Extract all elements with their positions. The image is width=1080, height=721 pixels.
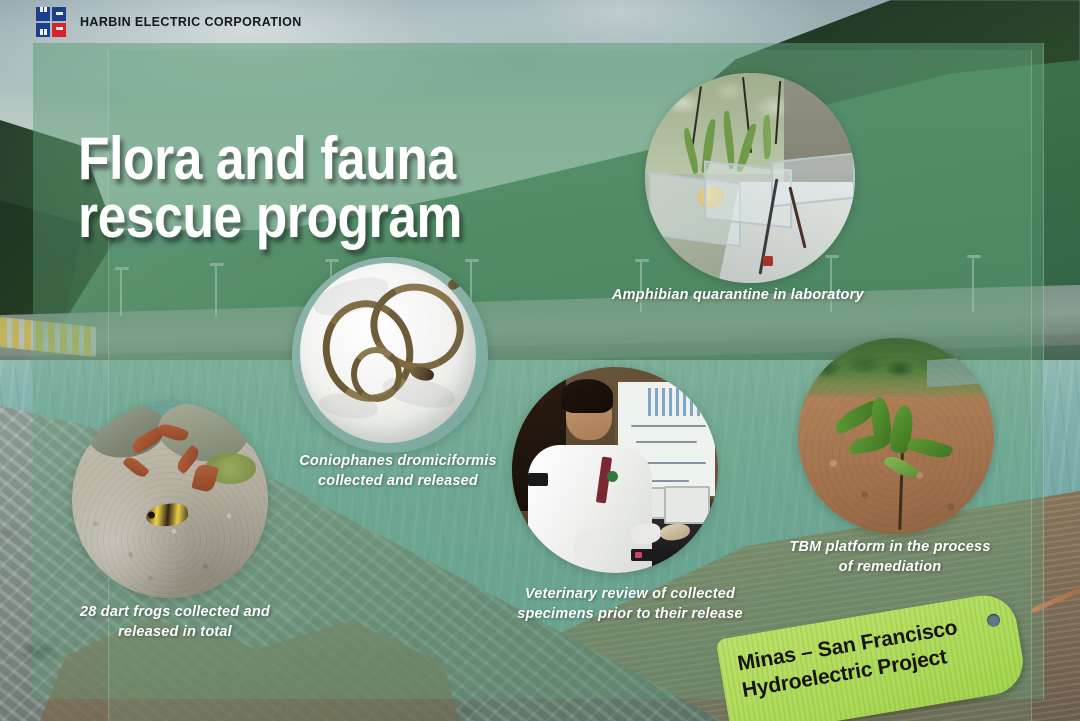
brand-name: HARBIN ELECTRIC CORPORATION (80, 15, 302, 29)
header-bar: HARBIN ELECTRIC CORPORATION (0, 0, 1080, 44)
photo-content (645, 73, 855, 283)
photo-content (512, 367, 718, 573)
whiteboard-writing (636, 441, 698, 443)
photo-content (292, 257, 488, 453)
amphibian-quarantine-photo (645, 73, 855, 283)
harbin-electric-logo-icon (36, 7, 66, 37)
logo-block-bottom-right (52, 23, 66, 37)
caption-dart-frogs: 28 dart frogs collected and released in … (60, 603, 290, 642)
logo-block-bottom-left (36, 23, 50, 37)
caption-snake: Coniophanes dromiciformis collected and … (290, 452, 506, 491)
snake-photo (292, 257, 488, 453)
tbm-platform-seedling-photo (798, 338, 994, 534)
dart-frog-photo (72, 402, 268, 598)
whiteboard-chart (648, 388, 702, 417)
logo-block-top-left (36, 7, 50, 21)
caption-veterinary-review: Veterinary review of collected specimens… (495, 585, 765, 624)
photo-content (72, 402, 268, 598)
specimen-container (664, 486, 709, 523)
veterinary-review-photo (512, 367, 718, 573)
veterinarian-hair (561, 379, 613, 413)
photo-content (798, 338, 994, 534)
logo-block-top-right (52, 7, 66, 21)
page-title: Flora and fauna rescue program (78, 130, 462, 246)
dart-frog (145, 502, 189, 528)
caption-tbm-platform: TBM platform in the process of remediati… (765, 538, 1015, 577)
hose-nozzle (763, 256, 773, 266)
poster-canvas: HARBIN ELECTRIC CORPORATION Flora and fa… (0, 0, 1080, 721)
whiteboard-writing (631, 425, 705, 427)
glass-terrarium (771, 153, 855, 208)
caption-amphibian-quarantine: Amphibian quarantine in laboratory (612, 286, 864, 306)
weighing-scale (631, 549, 675, 561)
shoulder-patch (528, 473, 548, 486)
